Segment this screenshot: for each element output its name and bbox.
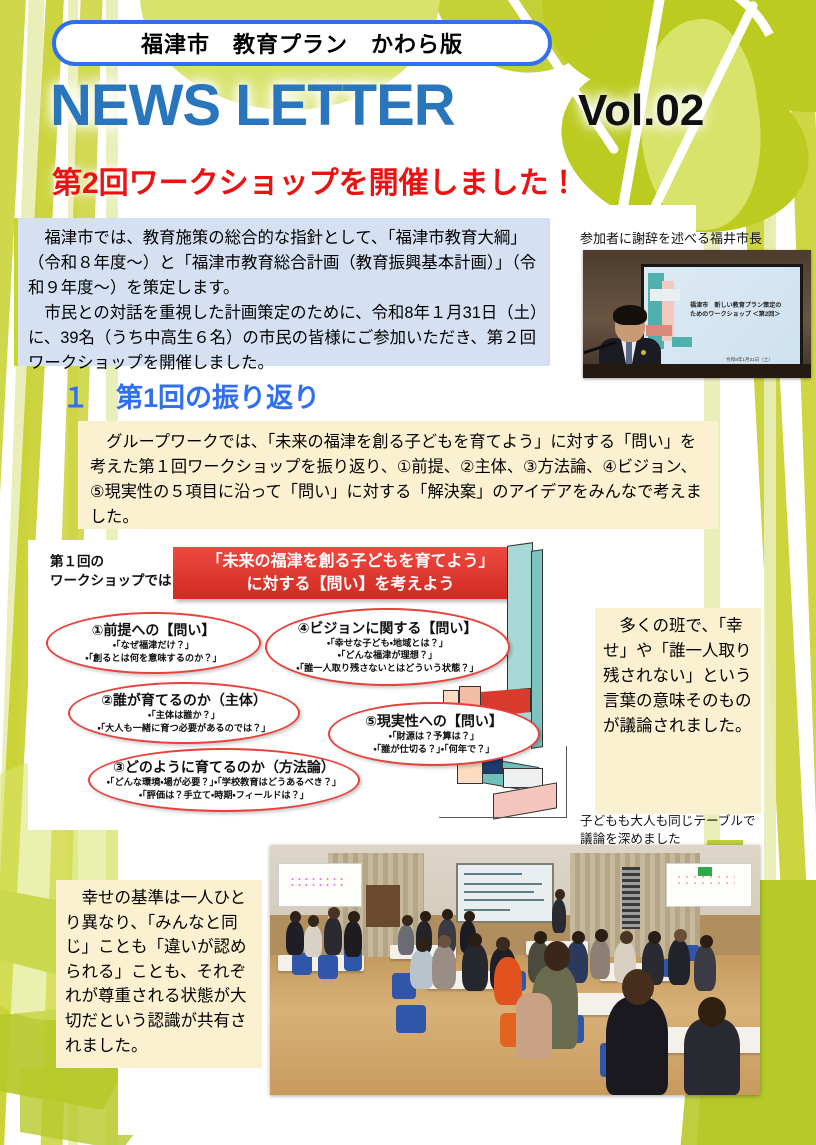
photo-mayor-caption: 参加者に謝辞を述べる福井市長: [580, 228, 762, 247]
diagram-oval-vision: ④ビジョンに関する【問い】 ・「幸せな子ども・地域とは？」 ・「どんな福津が理想…: [265, 608, 510, 686]
room-person: [398, 925, 414, 955]
room-person: [304, 925, 322, 957]
photo-mayor-slide-date: 令和8年1月31日（土）: [726, 357, 773, 363]
room-person-head: [328, 907, 340, 919]
room-person-head: [420, 911, 431, 922]
oval-title: ①前提への【問い】: [92, 622, 216, 639]
room-coat-on-chair: [516, 993, 552, 1059]
side-note-text: 多くの班で、「幸せ」や「誰一人取り残されない」という言葉の意味そのものが議論され…: [603, 614, 753, 739]
figure-hair: [613, 305, 647, 325]
room-person-head: [622, 969, 654, 1005]
slide-line-2: ためのワークショップ ＜第2回＞: [690, 310, 798, 319]
intro-paragraph-1: 福津市では、教育施策の総合的な指針として、「福津市教育大綱」（令和８年度～）と「…: [28, 226, 540, 301]
room-person-head: [348, 911, 360, 923]
room-presenter: [552, 899, 566, 933]
section-1-heading: １ 第1回の振り返り: [62, 376, 320, 415]
oval-sub: ・「評価は？手立て・時期・フィールドは？」: [139, 789, 309, 802]
room-person: [668, 939, 690, 985]
header-subtitle: 第2回ワークショップを開催しました！: [52, 158, 579, 202]
diagram-oval-subject: ②誰が育てるのか（主体） ・「主体は誰か？」 ・「大人も一緒に育つ必要があるので…: [68, 682, 300, 744]
room-person: [694, 945, 716, 991]
room-person-head: [290, 911, 301, 923]
room-person: [286, 921, 304, 955]
photo-mayor-projection-screen: 福津市 新しい教育プラン策定の ためのワークショップ ＜第2回＞ 令和8年1月3…: [641, 264, 803, 368]
oval-title: ②誰が育てるのか（主体）: [101, 692, 267, 709]
room-chair: [396, 1005, 426, 1033]
photo-mayor-desk: [583, 364, 811, 378]
room-person-head: [464, 911, 475, 922]
screen-text-line: [464, 873, 522, 875]
room-person: [344, 921, 362, 957]
room-cabinet: [366, 885, 400, 927]
room-person-head: [700, 935, 713, 948]
art-shape: [531, 549, 543, 749]
screen-text-line: [464, 883, 542, 885]
photo-room-caption-line-1: 子どもも大人も同じテーブルで: [580, 812, 756, 830]
room-person-head: [620, 931, 633, 944]
room-person-foreground: [606, 997, 668, 1095]
photo-mayor-slide-text: 福津市 新しい教育プラン策定の ためのワークショップ ＜第2回＞: [690, 301, 798, 319]
oval-sub: ・「誰一人取り残さないとはどういう状態？」: [296, 662, 478, 675]
workshop-diagram: 第１回の ワークショップでは 「未来の福津を創る子どもを育てよう」 に対する【問…: [28, 540, 588, 830]
section-1-body-box: グループワークでは、「未来の福津を創る子どもを育てよう」に対する「問い」を考えた…: [78, 421, 718, 529]
screen-text-line: [464, 899, 544, 901]
room-person: [462, 943, 488, 991]
header-pill-label: 福津市 教育プラン かわら版: [141, 27, 463, 59]
room-person-head: [698, 997, 726, 1027]
oval-sub: ・「財源は？予算は？」: [389, 730, 479, 743]
oval-sub: ・「幸せな子ども・地域とは？」: [327, 637, 448, 650]
page-title: NEWS LETTER: [50, 72, 455, 139]
oval-sub: ・「主体は誰か？」: [148, 709, 220, 722]
diagram-label-line-1: 第１回の: [50, 552, 172, 571]
screen-text-line: [464, 891, 534, 893]
room-person: [324, 917, 342, 955]
photo-workshop-room: [270, 845, 760, 1095]
room-person: [410, 949, 434, 989]
room-person-head: [534, 931, 547, 944]
section-1-body-text: グループワークでは、「未来の福津を創る子どもを育てよう」に対する「問い」を考えた…: [90, 430, 706, 530]
room-person: [432, 945, 456, 989]
diagram-banner-line-2: に対する【問い】を考えよう: [246, 573, 454, 596]
room-poster-board: [278, 863, 362, 907]
room-person-head: [572, 931, 585, 944]
bottom-note-text: 幸せの基準は一人ひとり異なり、「みんなと同じ」ことも「違いが認められる」ことも、…: [65, 886, 253, 1058]
photo-room-caption-line-2: 議論を深めました: [580, 830, 756, 848]
oval-sub: ・「創るとは何を意味するのか？」: [85, 652, 221, 665]
side-note-box: 多くの班で、「幸せ」や「誰一人取り残されない」という言葉の意味そのものが議論され…: [595, 608, 761, 814]
oval-title: ③どのように育てるのか（方法論）: [113, 759, 335, 776]
room-person-head: [438, 935, 451, 948]
room-person-head: [402, 915, 413, 926]
slide-line-1: 福津市 新しい教育プラン策定の: [690, 301, 798, 310]
room-person: [590, 939, 610, 979]
room-person-head: [496, 937, 510, 951]
room-presenter-head: [555, 889, 565, 900]
bottom-note-box: 幸せの基準は一人ひとり異なり、「みんなと同じ」ことも「違いが認められる」ことも、…: [56, 880, 262, 1068]
oval-sub: ・「なぜ福津だけ？」: [113, 639, 194, 652]
diagram-oval-methodology: ③どのように育てるのか（方法論） ・「どんな環境・場が必要？」・「学校教育はどう…: [88, 748, 360, 812]
room-pillar: [622, 867, 640, 929]
room-chair: [318, 955, 338, 979]
room-person-foreground: [684, 1019, 740, 1095]
diagram-oval-premise: ①前提への【問い】 ・「なぜ福津だけ？」 ・「創るとは何を意味するのか？」: [46, 612, 261, 674]
photo-mayor: 福津市 新しい教育プラン策定の ためのワークショップ ＜第2回＞ 令和8年1月3…: [583, 250, 811, 378]
page-header: 福津市 教育プラン かわら版 NEWS LETTER Vol.02 第2回ワーク…: [0, 0, 816, 212]
room-person-head: [674, 929, 687, 942]
slide-shape: [672, 337, 692, 347]
newsletter-page: 福津市 教育プラン かわら版 NEWS LETTER Vol.02 第2回ワーク…: [0, 0, 816, 1145]
room-person-head: [648, 931, 661, 944]
room-exit-sign: [698, 867, 712, 876]
diagram-abstract-art: [433, 540, 588, 830]
header-title-pill: 福津市 教育プラン かわら版: [52, 20, 552, 66]
volume-label: Vol.02: [578, 86, 704, 136]
oval-title: ⑤現実性への【問い】: [365, 713, 503, 730]
diagram-label-line-2: ワークショップでは: [50, 571, 172, 590]
oval-sub: ・「誰が仕切る？」・「何年で？」: [373, 743, 494, 756]
slide-shape: [650, 289, 680, 301]
oval-sub: ・「大人も一緒に育つ必要があるのでは？」: [97, 722, 270, 735]
room-person-head: [416, 939, 429, 952]
oval-sub: ・「どんな環境・場が必要？」・「学校教育はどうあるべき？」: [107, 776, 341, 789]
oval-sub: ・「どんな福津が理想？」: [338, 649, 438, 662]
room-person-head: [595, 929, 608, 942]
diagram-label: 第１回の ワークショップでは: [50, 552, 172, 590]
room-person-head: [308, 915, 319, 927]
figure-lapel-pin: [641, 350, 646, 355]
intro-text-box: 福津市では、教育施策の総合的な指針として、「福津市教育大綱」（令和８年度～）と「…: [14, 218, 550, 366]
room-person-head: [442, 909, 453, 920]
room-person-head: [544, 941, 570, 971]
photo-room-caption: 子どもも大人も同じテーブルで 議論を深めました: [580, 812, 756, 848]
oval-title: ④ビジョンに関する【問い】: [298, 620, 478, 637]
diagram-oval-feasibility: ⑤現実性への【問い】 ・「財源は？予算は？」 ・「誰が仕切る？」・「何年で？」: [328, 702, 540, 766]
intro-paragraph-2: 市民との対話を重視した計画策定のために、令和8年１月31日（土）に、39名（うち…: [28, 301, 540, 376]
room-person-head: [468, 933, 482, 947]
